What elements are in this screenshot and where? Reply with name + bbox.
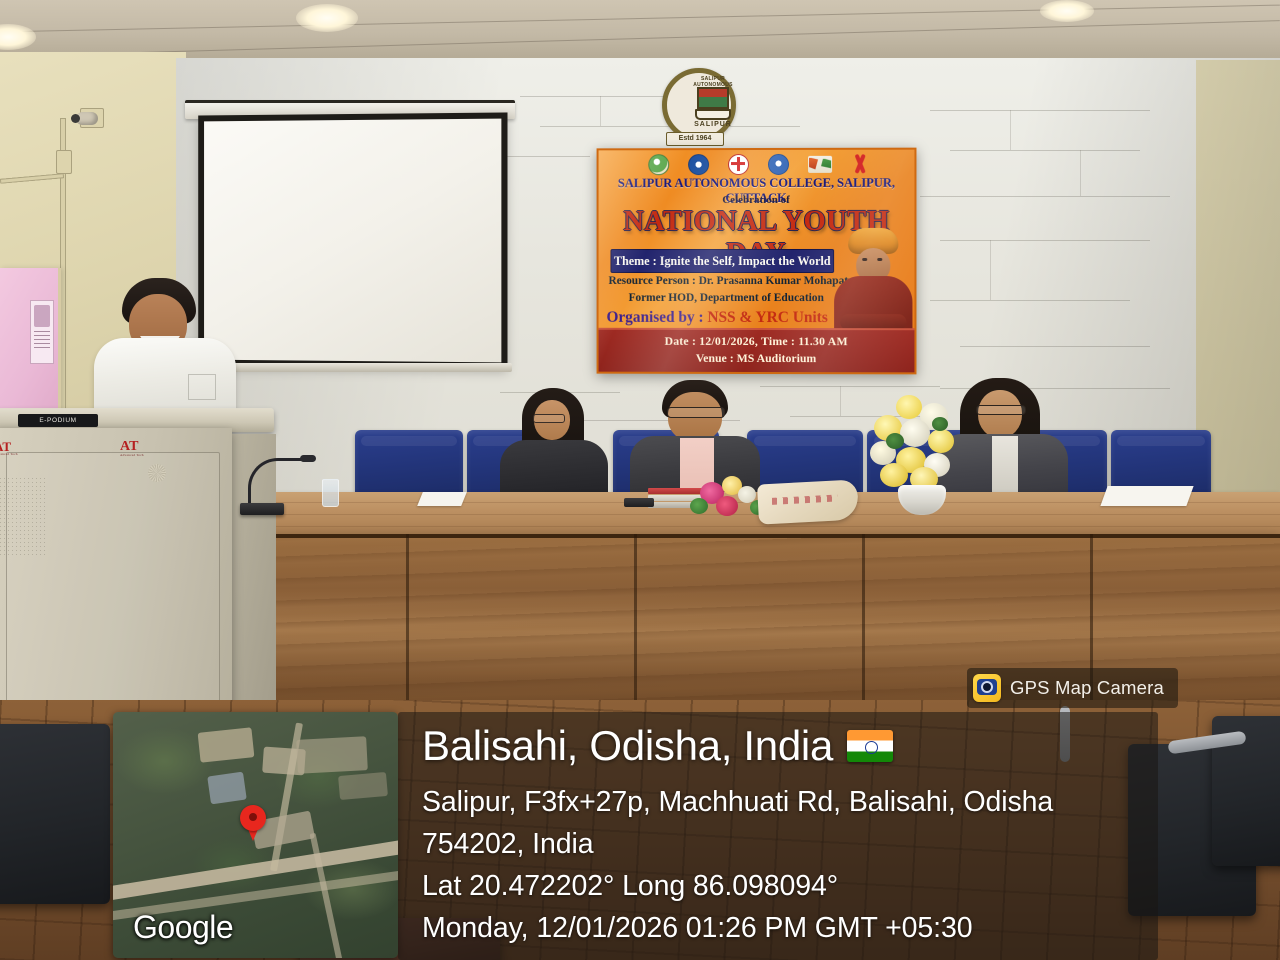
swachh-bharat-logo: [808, 155, 832, 172]
banner-resource-person-line1: Resource Person : Dr. Prasanna Kumar Moh…: [608, 275, 844, 287]
notice-paper: [30, 300, 54, 364]
ceremonial-shawl: [757, 479, 859, 524]
microphone-base: [240, 503, 284, 515]
red-ribbon-aids-logo: [851, 154, 868, 174]
podium-nameplate: E-PODIUM: [18, 414, 98, 427]
table-panel-seam: [862, 534, 865, 714]
banner-venue: Venue : MS Auditorium: [599, 351, 915, 367]
banner-theme-box: Theme : Ignite the Self, Impact the Worl…: [610, 249, 834, 273]
photo-screenshot: SALIPUR AUTONOMOUS COLLEGE SALIPUR Estd …: [0, 0, 1280, 960]
emblem-name: SALIPUR: [681, 121, 745, 128]
map-building: [198, 727, 255, 762]
podium-brand-subtext: Advanced Tech: [120, 454, 144, 457]
banner-date-time: Date : 12/01/2026, Time : 11.30 AM: [599, 334, 915, 350]
table-panel-seam: [634, 534, 637, 714]
gps-place-name: Balisahi, Odisha, India: [422, 722, 833, 770]
emblem-shield: [697, 87, 729, 109]
banner-celebration-line: Celebration of: [599, 194, 915, 206]
google-watermark: Google: [133, 909, 233, 946]
college-emblem: SALIPUR AUTONOMOUS COLLEGE SALIPUR Estd …: [648, 68, 740, 146]
audience-chair: [0, 724, 110, 904]
gps-place-title: Balisahi, Odisha, India: [422, 722, 893, 770]
emblem-book-icon: [695, 109, 731, 120]
map-thumbnail[interactable]: Google: [113, 712, 398, 958]
podium-brand-text: AT: [120, 439, 138, 454]
red-cross-logo: [728, 154, 749, 175]
water-glass: [322, 479, 339, 507]
microphone-arm: [248, 458, 311, 509]
table-paper: [417, 492, 467, 506]
location-pin-marker: [240, 805, 266, 841]
emblem-estd: Estd 1964: [666, 132, 724, 146]
gps-map-camera-label: GPS Map Camera: [1010, 677, 1164, 699]
ceiling-light: [296, 4, 358, 32]
table-paper: [1100, 486, 1193, 506]
podium-speaker-grill: [0, 478, 46, 558]
conduit-junction-box: [56, 150, 72, 174]
map-building: [296, 736, 368, 774]
podium-brand-logo: AT Advanced Tech: [120, 440, 144, 457]
india-flag-icon: [847, 730, 893, 762]
speaker-at-podium: [96, 278, 228, 418]
gps-map-camera-watermark: GPS Map Camera: [967, 668, 1178, 708]
nss-logo: [688, 154, 709, 175]
gps-datetime: Monday, 12/01/2026 01:26 PM GMT +05:30: [422, 912, 972, 945]
yrc-logo: [768, 153, 789, 174]
cctv-camera-icon: [76, 112, 98, 125]
map-building: [338, 772, 388, 800]
microphone-base: [624, 498, 654, 507]
banner-logo-row: [648, 153, 868, 175]
podium-brand-logo: AT Advanced Tech: [0, 440, 18, 456]
podium-vent: [148, 464, 166, 482]
flower-vase: [866, 393, 976, 515]
gps-info-panel: Balisahi, Odisha, India Salipur, F3fx+27…: [398, 712, 1158, 960]
banner-organised-units: NSS & YRC Units: [707, 309, 827, 326]
gps-address-line2: 754202, India: [422, 828, 593, 861]
college-crest-logo: [648, 154, 669, 175]
gps-map-camera-icon: [973, 674, 1001, 702]
projector-screen: [198, 112, 507, 368]
microphone-head: [300, 455, 316, 462]
gps-address-line1: Salipur, F3fx+27p, Machhuati Rd, Balisah…: [422, 786, 1053, 819]
banner-organised-by: Organised by : NSS & YRC Units: [607, 309, 847, 327]
ceiling-light: [1040, 0, 1094, 22]
seated-person-left: [504, 388, 604, 500]
podium-nameplate-text: E-PODIUM: [39, 417, 76, 424]
podium-brand-subtext: Advanced Tech: [0, 453, 18, 456]
map-building: [207, 772, 247, 805]
banner-footer: Date : 12/01/2026, Time : 11.30 AM Venue…: [599, 328, 915, 373]
banner-resource-person-line2: Former HOD, Department of Education: [608, 292, 844, 304]
banner-organised-prefix: Organised by :: [607, 309, 708, 326]
gps-coordinates: Lat 20.472202° Long 86.098094°: [422, 870, 838, 903]
projector-screen-bottom-bar: [190, 363, 512, 372]
event-banner: SALIPUR AUTONOMOUS COLLEGE, SALIPUR, CUT…: [597, 148, 917, 375]
banner-theme-text: Theme : Ignite the Self, Impact the Worl…: [614, 253, 831, 268]
table-panel-seam: [406, 534, 409, 714]
